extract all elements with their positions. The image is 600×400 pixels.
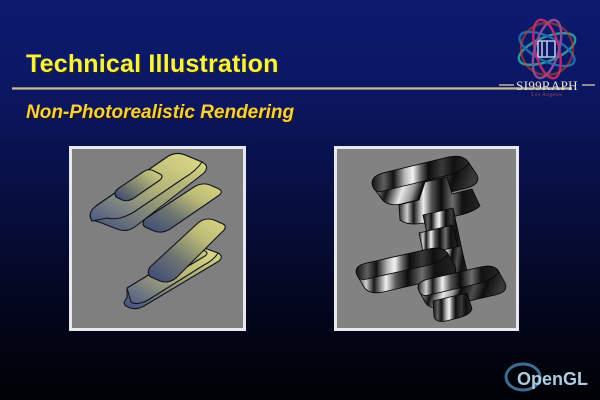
- opengl-wordmark-icon: OpenGL .: [503, 360, 595, 394]
- opengl-logo: OpenGL .: [503, 360, 595, 394]
- page-subtitle: Non-Photorealistic Rendering: [26, 102, 294, 124]
- figure-panel-metallic-phong: [334, 146, 519, 331]
- siggraph-wordmark: SI99RAPH: [498, 78, 596, 94]
- figure-panel-cool-to-warm: [69, 146, 246, 331]
- title-divider: [12, 87, 572, 90]
- svg-text:OpenGL: OpenGL: [517, 369, 588, 389]
- svg-text:.: .: [585, 376, 588, 388]
- page-title: Technical Illustration: [26, 50, 279, 79]
- presentation-slide: Technical Illustration Non-Photorealisti…: [0, 0, 600, 400]
- siggraph-logo: SI99RAPH Los Angeles: [498, 16, 596, 104]
- cool-to-warm-part-illustration: [72, 149, 243, 328]
- siggraph-city-label: Los Angeles: [498, 93, 596, 98]
- metallic-phong-part-illustration: [337, 149, 516, 328]
